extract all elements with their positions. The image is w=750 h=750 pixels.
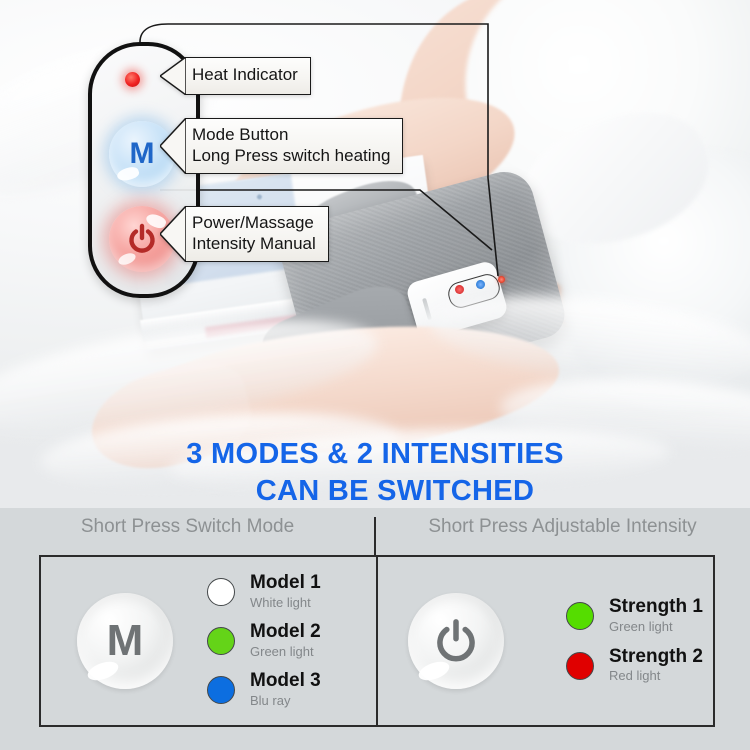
intensity-legend: Strength 1 Green light Strength 2 Red li… [566, 597, 703, 684]
legend-desc: Blu ray [250, 693, 321, 709]
callout-mode-button: Mode Button Long Press switch heating [160, 118, 403, 174]
list-item: Model 1 White light [207, 573, 321, 611]
mode-button-glyph: M [107, 619, 144, 663]
callout-body: Power/Massage Intensity Manual [186, 206, 329, 262]
intensity-panel: Strength 1 Green light Strength 2 Red li… [378, 557, 713, 725]
power-icon [430, 615, 482, 667]
callout-arrow-icon [160, 206, 186, 262]
vertical-divider [374, 517, 376, 557]
infographic-root: M Heat Indicator Mode Button [0, 0, 750, 750]
legend-text: Strength 1 Green light [609, 597, 703, 635]
callout-arrow-icon [160, 57, 186, 95]
led-dot-red [566, 652, 594, 680]
legend-title: Strength 2 [609, 647, 703, 668]
mode-button-large[interactable]: M [77, 593, 173, 689]
legend-title: Strength 1 [609, 597, 703, 618]
led-dot-green [207, 627, 235, 655]
legend-title: Model 1 [250, 573, 321, 594]
comparison-boxes: M Model 1 White light Model 2 Green ligh… [39, 555, 715, 727]
mode-button-glyph: M [130, 139, 155, 169]
legend-text: Model 1 White light [250, 573, 321, 611]
callout-body: Heat Indicator [186, 57, 311, 95]
list-item: Strength 1 Green light [566, 597, 703, 635]
heat-indicator-led [125, 72, 140, 87]
headline: 3 MODES & 2 INTENSITIES CAN BE SWITCHED [0, 436, 750, 510]
callout-line: Intensity Manual [192, 234, 316, 254]
led-dot-green [566, 602, 594, 630]
callout-arrow-icon [160, 118, 186, 174]
subheading-left: Short Press Switch Mode [0, 516, 375, 538]
list-item: Model 2 Green light [207, 622, 321, 660]
mode-panel: M Model 1 White light Model 2 Green ligh… [41, 557, 378, 725]
callout-line: Heat Indicator [192, 65, 298, 85]
list-item: Strength 2 Red light [566, 647, 703, 685]
power-button-large[interactable] [408, 593, 504, 689]
callout-line: Long Press switch heating [192, 146, 390, 166]
legend-text: Strength 2 Red light [609, 647, 703, 685]
subheading-right: Short Press Adjustable Intensity [375, 516, 750, 538]
legend-desc: Green light [250, 644, 321, 660]
callout-body: Mode Button Long Press switch heating [186, 118, 403, 174]
legend-desc: Red light [609, 668, 703, 684]
legend-title: Model 2 [250, 622, 321, 643]
callout-line: Power/Massage [192, 213, 316, 233]
headline-line-2: CAN BE SWITCHED [0, 473, 750, 510]
legend-text: Model 2 Green light [250, 622, 321, 660]
led-dot-white [207, 578, 235, 606]
legend-desc: White light [250, 595, 321, 611]
legend-text: Model 3 Blu ray [250, 671, 321, 709]
callout-heat-indicator: Heat Indicator [160, 57, 311, 95]
callout-line: Mode Button [192, 125, 390, 145]
mode-legend: Model 1 White light Model 2 Green light … [207, 573, 321, 709]
legend-title: Model 3 [250, 671, 321, 692]
headline-line-1: 3 MODES & 2 INTENSITIES [0, 436, 750, 473]
callout-power-button: Power/Massage Intensity Manual [160, 206, 329, 262]
power-icon [125, 222, 159, 256]
list-item: Model 3 Blu ray [207, 671, 321, 709]
led-dot-blue [207, 676, 235, 704]
legend-desc: Green light [609, 619, 703, 635]
module-heat-led [498, 276, 505, 283]
